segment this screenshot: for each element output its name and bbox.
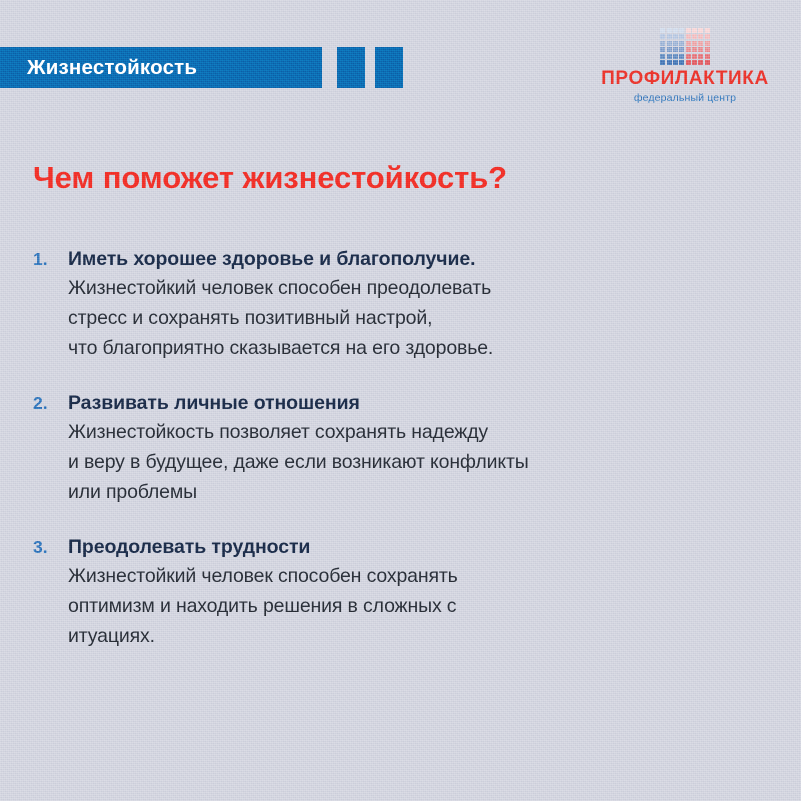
benefits-list: 1.Иметь хорошее здоровье и благополучие.… (33, 246, 763, 651)
logo-grid-cell (679, 34, 684, 39)
logo-grid-cell (660, 47, 665, 52)
logo-grid-cell (667, 54, 672, 59)
list-item-body: Жизнестойкость позволяет сохранять надеж… (68, 417, 763, 507)
logo-grid-cell (686, 47, 691, 52)
logo-grid-cell (705, 34, 710, 39)
list-item-number: 3. (33, 534, 48, 561)
list-item-title: Иметь хорошее здоровье и благополучие. (68, 246, 763, 273)
logo-grid-cell (692, 60, 697, 65)
logo-grid-cell (673, 60, 678, 65)
profilaktika-grid-icon (660, 28, 710, 65)
list-item: 1.Иметь хорошее здоровье и благополучие.… (33, 246, 763, 363)
list-item-body-line: Жизнестойкий человек способен сохранять (68, 561, 763, 591)
logo-grid-cell (660, 60, 665, 65)
logo-grid-cell (679, 60, 684, 65)
header-accent-block-2 (375, 47, 403, 88)
list-item-body-line: и веру в будущее, даже если возникают ко… (68, 447, 763, 477)
logo-grid-cell (673, 47, 678, 52)
logo-grid-cell (673, 54, 678, 59)
list-item-body-line: или проблемы (68, 477, 763, 507)
logo-grid-cell (692, 41, 697, 46)
logo-grid-cell (698, 54, 703, 59)
list-item: 3.Преодолевать трудностиЖизнестойкий чел… (33, 534, 763, 651)
header-banner: Жизнестойкость (0, 47, 322, 88)
logo-grid-cell (692, 47, 697, 52)
logo-grid-cell (679, 41, 684, 46)
slide-canvas: Жизнестойкость ПРОФИЛАКТИКА федеральный … (0, 0, 801, 801)
logo-grid-cell (673, 28, 678, 33)
logo-grid-cell (686, 54, 691, 59)
logo-grid-cell (660, 54, 665, 59)
logo-wordmark: ПРОФИЛАКТИКА (601, 69, 769, 88)
logo-grid-cell (692, 28, 697, 33)
list-item: 2.Развивать личные отношенияЖизнестойкос… (33, 390, 763, 507)
logo-grid-cell (692, 34, 697, 39)
logo-grid-cell (667, 28, 672, 33)
brand-logo: ПРОФИЛАКТИКА федеральный центр (593, 28, 777, 104)
logo-grid-cell (686, 41, 691, 46)
list-item-body: Жизнестойкий человек способен сохранятьо… (68, 561, 763, 651)
list-item-number: 2. (33, 390, 48, 417)
list-item-body-line: Жизнестойкий человек способен преодолева… (68, 273, 763, 303)
logo-grid-cell (660, 41, 665, 46)
logo-grid-cell (692, 54, 697, 59)
logo-grid-cell (698, 28, 703, 33)
logo-grid-cell (667, 60, 672, 65)
list-item-title: Развивать личные отношения (68, 390, 763, 417)
logo-grid-cell (673, 41, 678, 46)
logo-grid-cell (679, 28, 684, 33)
logo-grid-cell (679, 54, 684, 59)
header-accent-block-1 (337, 47, 365, 88)
logo-grid-cell (686, 34, 691, 39)
list-item-number: 1. (33, 246, 48, 273)
logo-grid-cell (698, 47, 703, 52)
list-item-body-line: стресс и сохранять позитивный настрой, (68, 303, 763, 333)
list-item-body-line: что благоприятно сказывается на его здор… (68, 333, 763, 363)
page-title: Чем поможет жизнестойкость? (33, 160, 507, 196)
list-item-body-line: Жизнестойкость позволяет сохранять надеж… (68, 417, 763, 447)
logo-grid-cell (667, 34, 672, 39)
logo-grid-cell (686, 60, 691, 65)
list-item-title: Преодолевать трудности (68, 534, 763, 561)
logo-grid-cell (679, 47, 684, 52)
logo-grid-cell (660, 34, 665, 39)
list-item-body-line: оптимизм и находить решения в сложных с (68, 591, 763, 621)
logo-grid-cell (705, 41, 710, 46)
logo-grid-cell (698, 60, 703, 65)
logo-grid-cell (705, 54, 710, 59)
logo-grid-cell (667, 41, 672, 46)
logo-grid-cell (673, 34, 678, 39)
logo-grid-cell (705, 47, 710, 52)
logo-grid-cell (705, 60, 710, 65)
logo-grid-cell (698, 41, 703, 46)
list-item-body-line: итуациях. (68, 621, 763, 651)
logo-grid-cell (698, 34, 703, 39)
logo-grid-cell (686, 28, 691, 33)
logo-subtitle: федеральный центр (634, 92, 736, 104)
logo-grid-cell (660, 28, 665, 33)
logo-grid-cell (705, 28, 710, 33)
list-item-body: Жизнестойкий человек способен преодолева… (68, 273, 763, 363)
header-banner-label: Жизнестойкость (0, 56, 197, 80)
logo-grid-cell (667, 47, 672, 52)
